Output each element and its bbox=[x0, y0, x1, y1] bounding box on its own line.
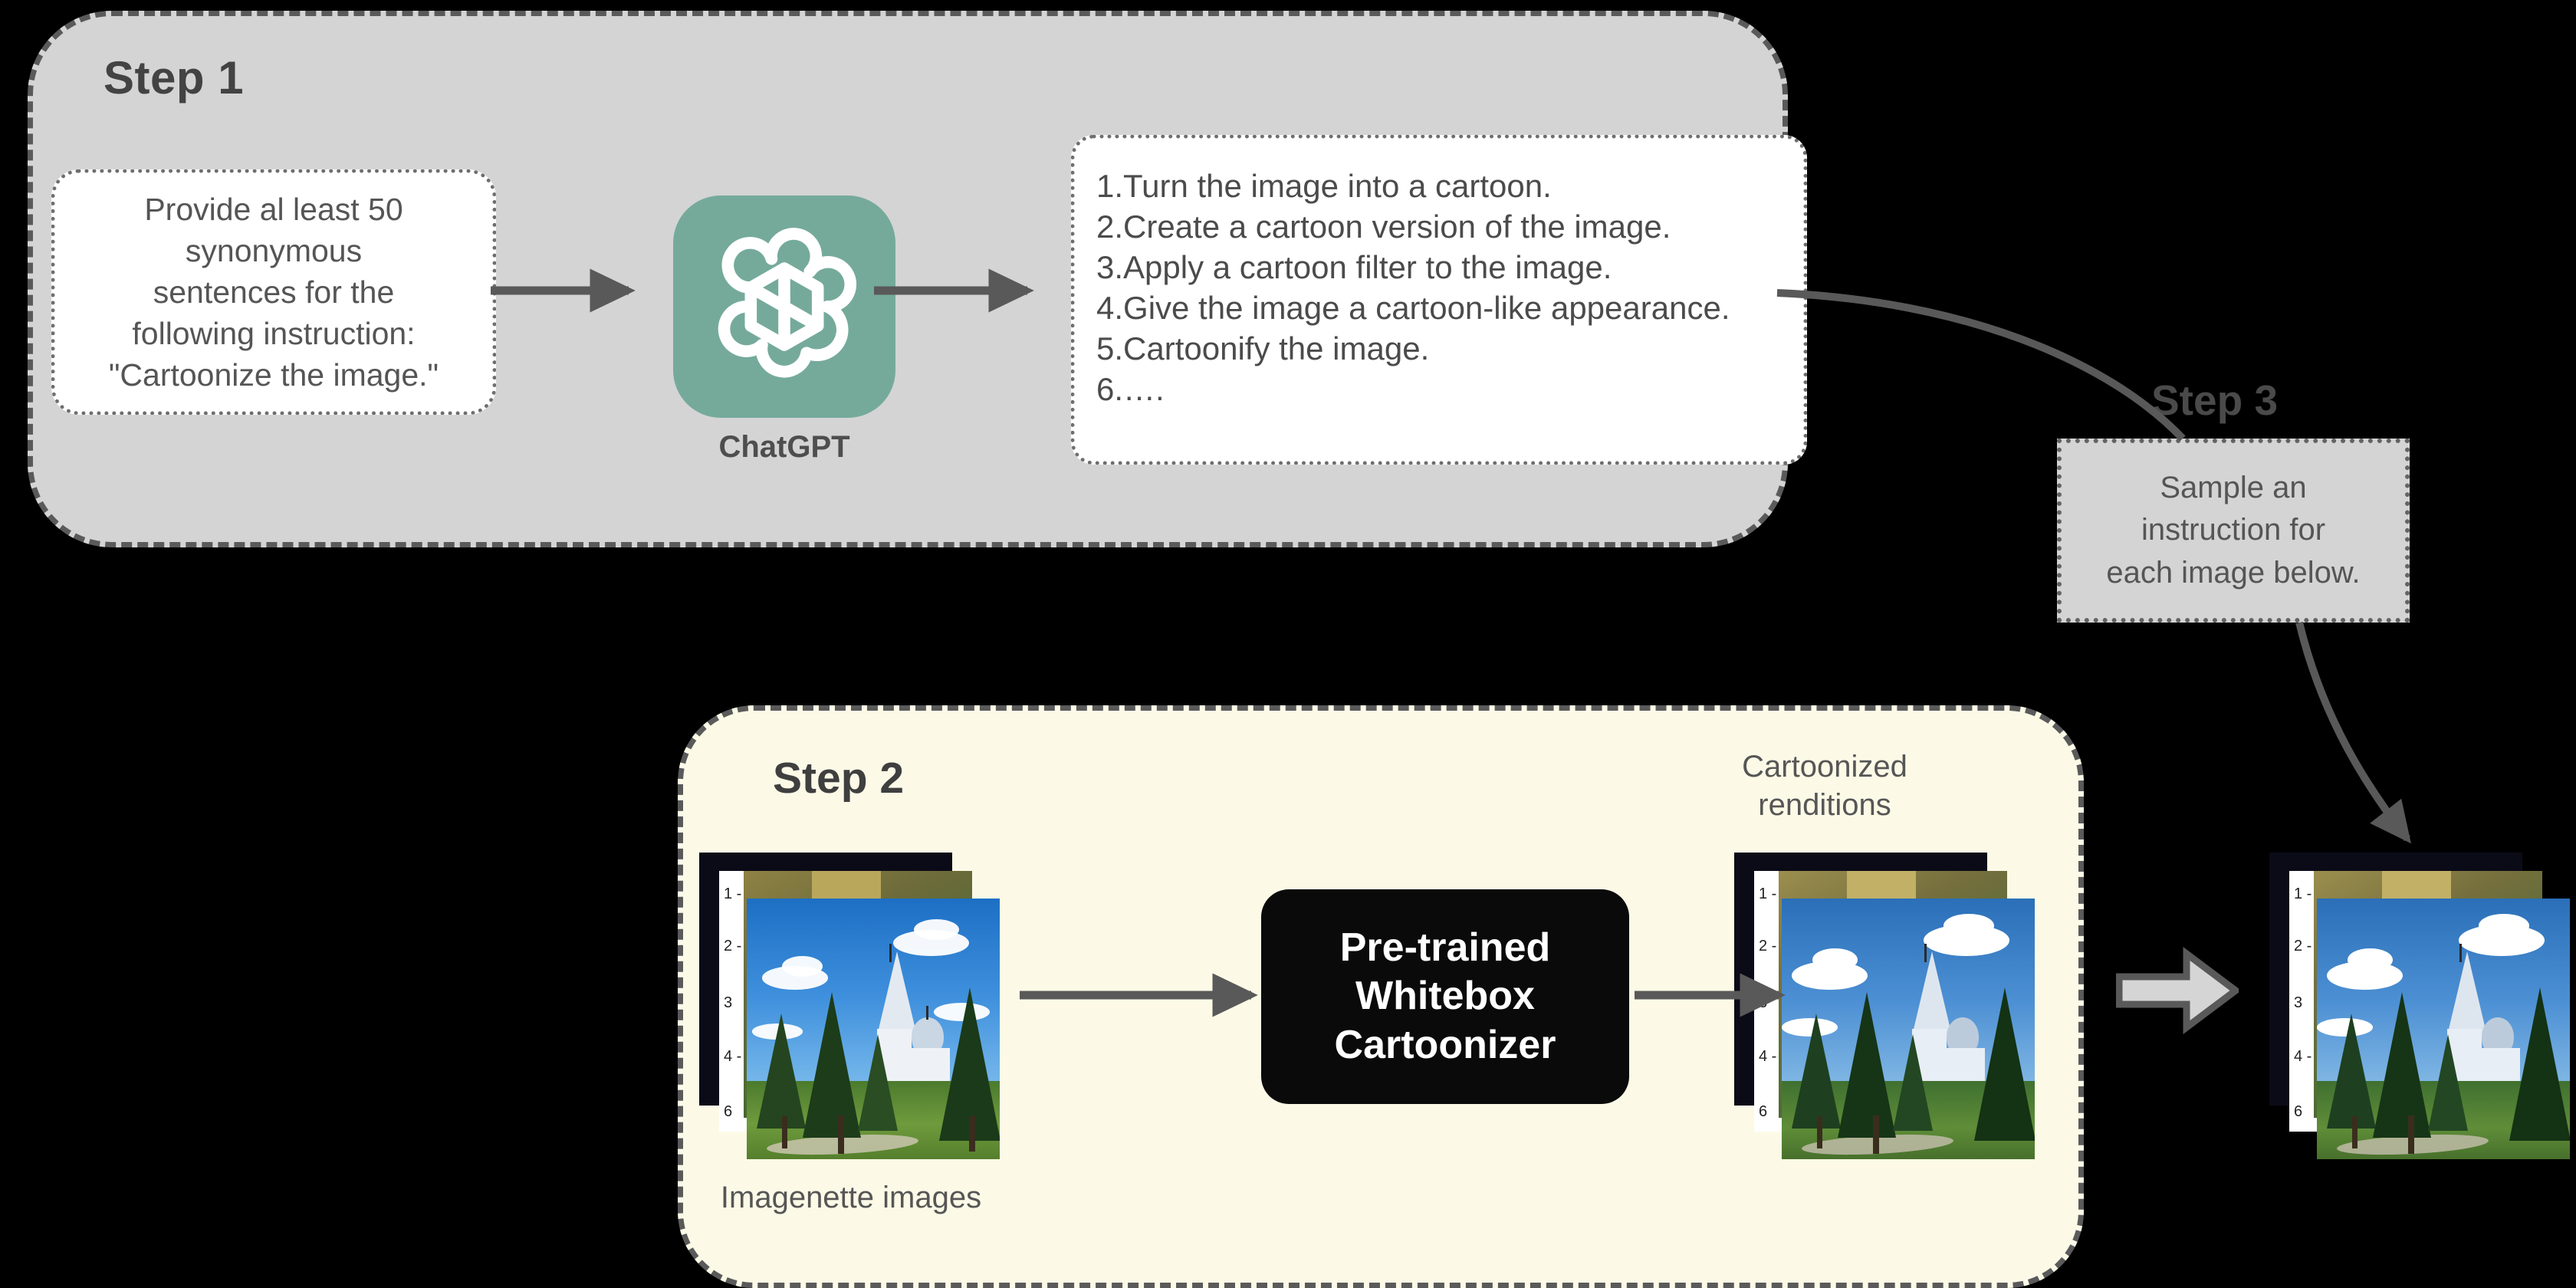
church-photo bbox=[747, 899, 1000, 1159]
list-item: 1.Turn the image into a cartoon. bbox=[1096, 166, 1803, 207]
final-church-photo bbox=[2317, 899, 2570, 1159]
instruction-list-box: 1.Turn the image into a cartoon. 2.Creat… bbox=[1071, 135, 1807, 465]
arrow-step3-to-final-stack bbox=[2299, 623, 2407, 839]
step3-text: Sample an instruction for each image bel… bbox=[2106, 467, 2360, 594]
cartoonized-renditions-label: Cartoonized renditions bbox=[1679, 747, 1970, 825]
step1-panel: Step 1 Provide al least 50 synonymous se… bbox=[28, 11, 1788, 547]
model-line-2: Whitebox bbox=[1355, 972, 1535, 1020]
prompt-text: Provide al least 50 synonymous sentences… bbox=[95, 189, 452, 396]
imagenette-images-label: Imagenette images bbox=[667, 1181, 1035, 1215]
stack-layer-front bbox=[747, 899, 1000, 1159]
cartoonized-image-stack: 1 -2 - 34 - 6 bbox=[1734, 853, 2056, 1175]
chatgpt-label: ChatGPT bbox=[673, 430, 895, 465]
chatgpt-tile bbox=[673, 195, 895, 418]
cartoonized-church-photo bbox=[1782, 899, 2035, 1159]
prompt-box: Provide al least 50 synonymous sentences… bbox=[51, 169, 496, 415]
block-arrow-icon bbox=[2116, 945, 2239, 1037]
list-item: 2.Create a cartoon version of the image. bbox=[1096, 207, 1803, 248]
stack-layer-front bbox=[2317, 899, 2570, 1159]
curve-list-to-step3 bbox=[1777, 293, 2183, 439]
step3-box: Sample an instruction for each image bel… bbox=[2057, 439, 2410, 623]
diagram-canvas: Step 1 Provide al least 50 synonymous se… bbox=[0, 0, 2576, 1250]
imagenette-image-stack: 1 -2 - 34 - 6 bbox=[699, 853, 1021, 1175]
step2-title: Step 2 bbox=[773, 753, 904, 803]
list-item: 5.Cartoonify the image. bbox=[1096, 329, 1803, 370]
final-image-stack: 1 -2 - 34 - 6 bbox=[2269, 853, 2576, 1175]
step1-title: Step 1 bbox=[103, 51, 244, 104]
list-item: 3.Apply a cartoon filter to the image. bbox=[1096, 248, 1803, 288]
list-item: 4.Give the image a cartoon-like appearan… bbox=[1096, 288, 1803, 329]
model-line-1: Pre-trained bbox=[1340, 924, 1551, 972]
model-line-3: Cartoonizer bbox=[1335, 1021, 1556, 1069]
step3-title: Step 3 bbox=[2151, 376, 2278, 425]
stack-layer-front bbox=[1782, 899, 2035, 1159]
openai-logo-icon bbox=[705, 227, 864, 386]
list-item: 6.…. bbox=[1096, 370, 1803, 410]
cartoonizer-model-box: Pre-trained Whitebox Cartoonizer bbox=[1261, 889, 1629, 1104]
